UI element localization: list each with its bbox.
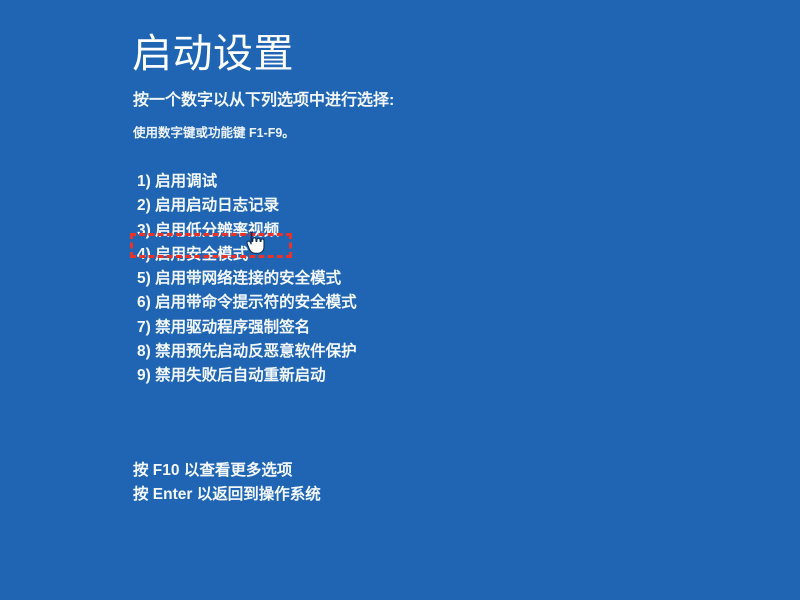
startup-option-2[interactable]: 2) 启用启动日志记录 xyxy=(137,194,657,218)
startup-options-list: 1) 启用调试 2) 启用启动日志记录 3) 启用低分辨率视频 4) 启用安全模… xyxy=(137,170,657,389)
startup-option-6[interactable]: 6) 启用带命令提示符的安全模式 xyxy=(137,291,657,315)
hint-more-options: 按 F10 以查看更多选项 xyxy=(133,459,321,483)
instruction-primary-text: 按一个数字以从下列选项中进行选择: xyxy=(133,91,394,111)
startup-settings-screen: 启动设置 按一个数字以从下列选项中进行选择: 使用数字键或功能键 F1-F9。 … xyxy=(0,0,800,600)
footer-hints: 按 F10 以查看更多选项 按 Enter 以返回到操作系统 xyxy=(133,459,321,507)
instruction-secondary-text: 使用数字键或功能键 F1-F9。 xyxy=(133,125,295,141)
startup-option-4[interactable]: 4) 启用安全模式 xyxy=(137,243,657,267)
page-title: 启动设置 xyxy=(132,31,294,77)
startup-option-3[interactable]: 3) 启用低分辨率视频 xyxy=(137,219,657,243)
startup-option-9[interactable]: 9) 禁用失败后自动重新启动 xyxy=(137,364,657,388)
startup-option-1[interactable]: 1) 启用调试 xyxy=(137,170,657,194)
hint-return-to-os: 按 Enter 以返回到操作系统 xyxy=(133,483,321,507)
startup-option-5[interactable]: 5) 启用带网络连接的安全模式 xyxy=(137,267,657,291)
startup-option-8[interactable]: 8) 禁用预先启动反恶意软件保护 xyxy=(137,340,657,364)
startup-option-7[interactable]: 7) 禁用驱动程序强制签名 xyxy=(137,316,657,340)
